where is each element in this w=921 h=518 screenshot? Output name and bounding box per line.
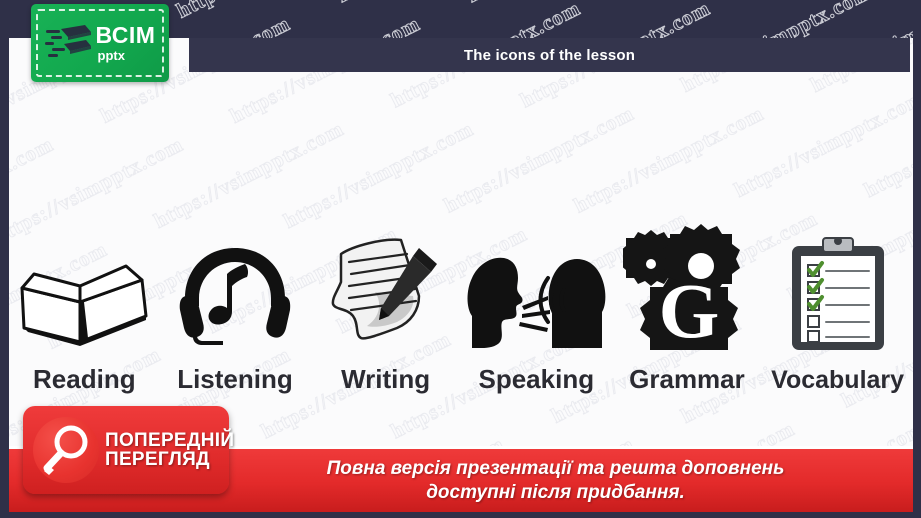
lesson-icon-label: Listening — [177, 364, 293, 395]
two-talking-heads-icon — [460, 230, 612, 350]
lesson-icon-label: Grammar — [629, 364, 745, 395]
open-book-icon — [14, 230, 154, 350]
slide-title-bar: The icons of the lesson — [189, 38, 910, 72]
magnifier-icon — [33, 417, 99, 483]
lesson-icon-grammar[interactable]: G Grammar — [612, 230, 762, 395]
lesson-icon-listening[interactable]: Listening — [160, 230, 310, 395]
lesson-icon-reading[interactable]: Reading — [9, 230, 159, 395]
lesson-icon-label: Writing — [341, 364, 430, 395]
lesson-icon-vocabulary[interactable]: Vocabulary — [763, 232, 913, 395]
page-title: The icons of the lesson — [464, 47, 635, 64]
preview-badge[interactable]: ПОПЕРЕДНІЙ ПЕРЕГЛЯД — [23, 406, 229, 494]
lesson-icon-label: Speaking — [479, 364, 595, 395]
watermark-text: https://vsimpptx.com — [860, 86, 921, 203]
lesson-icon-label: Reading — [33, 364, 136, 395]
svg-text:G: G — [659, 267, 720, 350]
preview-badge-line2: ПЕРЕГЛЯД — [105, 450, 234, 469]
purchase-notice-line2: доступні після придбання. — [327, 481, 785, 505]
watermark-text: https://vsimpptx.com — [730, 85, 921, 202]
logo-name: ВСІМ — [96, 24, 156, 47]
graduation-cap-icon — [45, 21, 93, 65]
lesson-icon-writing[interactable]: Writing — [311, 230, 461, 395]
watermark-text: https://vsimpptx.com — [914, 191, 921, 308]
logo-subtitle: pptx — [98, 49, 125, 62]
headphones-music-note-icon — [179, 230, 291, 350]
lesson-icon-label: Vocabulary — [771, 366, 904, 395]
vsimpptx-logo[interactable]: ВСІМ pptx — [31, 4, 169, 82]
lesson-icon-speaking[interactable]: Speaking — [461, 230, 611, 395]
purchase-notice-line1: Повна версія презентації та решта доповн… — [327, 457, 785, 481]
clipboard-checklist-icon — [790, 232, 886, 352]
lesson-icons-row: Reading Listening — [9, 195, 913, 395]
paper-and-pen-icon — [323, 230, 449, 350]
preview-badge-line1: ПОПЕРЕДНІЙ — [105, 431, 234, 450]
watermark-text: https://vsimpptx.com — [0, 358, 4, 475]
gears-with-letter-g-icon: G — [623, 230, 751, 350]
slide-canvas: https://vsimpptx.comhttps://vsimpptx.com… — [0, 0, 921, 518]
